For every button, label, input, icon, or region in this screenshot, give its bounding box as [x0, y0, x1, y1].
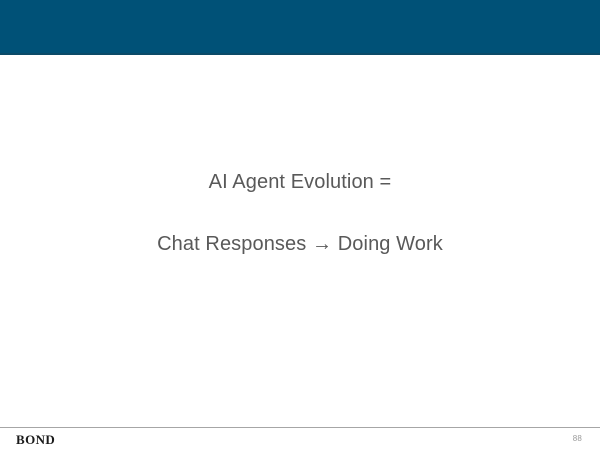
slide: AI Agent Evolution = Chat Responses → Do… [0, 0, 600, 450]
slide-body: AI Agent Evolution = Chat Responses → Do… [0, 56, 600, 420]
header-band-bottom-edge [0, 53, 600, 55]
header-band [0, 0, 600, 55]
headline-line-2: Chat Responses → Doing Work [0, 233, 600, 255]
slide-footer: BOND 88 [0, 428, 600, 450]
headline-line-1: AI Agent Evolution = [0, 171, 600, 193]
page-number: 88 [573, 434, 582, 443]
content-block: AI Agent Evolution = Chat Responses → Do… [0, 171, 600, 255]
bond-logo: BOND [16, 432, 55, 448]
